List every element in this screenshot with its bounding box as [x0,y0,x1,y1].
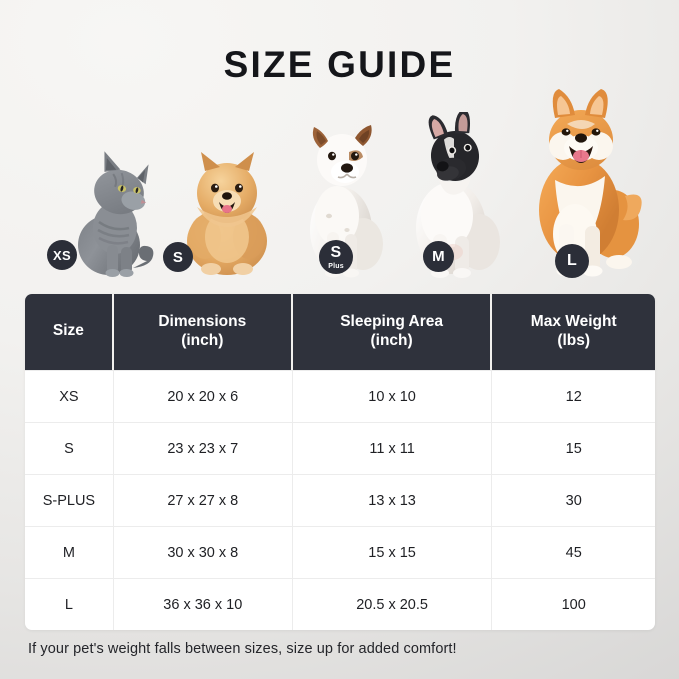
table-row: S-PLUS 27 x 27 x 8 13 x 13 30 [25,474,655,526]
cell-sleeping-area: 20.5 x 20.5 [293,579,493,630]
size-badge-xs-label: XS [53,249,71,262]
table-header-max-weight-line2: (lbs) [557,331,590,350]
animal-dog-jack-russell-terrier: S Plus [287,112,395,280]
table-row: S 23 x 23 x 7 11 x 11 15 [25,422,655,474]
size-badge-l: L [555,244,589,278]
cell-max-weight: 12 [492,371,655,422]
cell-sleeping-area: 10 x 10 [293,371,493,422]
table-header-max-weight-line1: Max Weight [531,312,617,331]
animal-lineup: XS [25,84,655,280]
cell-dimensions: 20 x 20 x 6 [114,371,293,422]
cell-size: S-PLUS [25,475,114,526]
table-row: XS 20 x 20 x 6 10 x 10 12 [25,370,655,422]
table-row: M 30 x 30 x 8 15 x 15 45 [25,526,655,578]
animal-dog-shiba-inu: L [515,84,645,280]
cell-sleeping-area: 13 x 13 [293,475,493,526]
size-table: Size Dimensions (inch) Sleeping Area (in… [25,294,655,630]
size-badge-s-plus-label: S [331,245,342,261]
animal-dog-pomeranian: S [175,145,279,280]
cell-size: M [25,527,114,578]
cell-size: S [25,423,114,474]
table-header-size-line1: Size [53,321,84,340]
cell-max-weight: 45 [492,527,655,578]
table-header-size: Size [25,294,114,370]
cell-max-weight: 30 [492,475,655,526]
table-header-sleeping-area: Sleeping Area (inch) [293,294,493,370]
table-header-sleeping-area-line2: (inch) [370,331,412,350]
cell-dimensions: 30 x 30 x 8 [114,527,293,578]
size-badge-s-plus-sublabel: Plus [328,263,344,270]
page-title: SIZE GUIDE [0,44,679,86]
cell-dimensions: 36 x 36 x 10 [114,579,293,630]
animal-dog-french-bulldog: M [397,112,509,280]
table-row: L 36 x 36 x 10 20.5 x 20.5 100 [25,578,655,630]
cell-sleeping-area: 15 x 15 [293,527,493,578]
cell-max-weight: 100 [492,579,655,630]
table-header-dimensions: Dimensions (inch) [114,294,293,370]
footer-note: If your pet's weight falls between sizes… [28,641,658,657]
size-badge-xs: XS [47,240,77,270]
table-header-row: Size Dimensions (inch) Sleeping Area (in… [25,294,655,370]
table-header-max-weight: Max Weight (lbs) [492,294,655,370]
size-badge-m: M [423,241,454,272]
cell-size: XS [25,371,114,422]
cell-max-weight: 15 [492,423,655,474]
table-header-sleeping-area-line1: Sleeping Area [340,312,443,331]
table-header-dimensions-line1: Dimensions [158,312,246,331]
animal-cat-grey-shorthair: XS [59,150,163,280]
size-badge-s-plus: S Plus [319,240,353,274]
size-badge-s-label: S [173,250,183,265]
size-badge-l-label: L [567,253,577,269]
size-badge-s: S [163,242,193,272]
cell-dimensions: 27 x 27 x 8 [114,475,293,526]
cell-sleeping-area: 11 x 11 [293,423,493,474]
size-guide-infographic: SIZE GUIDE [0,0,679,679]
size-badge-m-label: M [432,249,445,264]
cell-dimensions: 23 x 23 x 7 [114,423,293,474]
cell-size: L [25,579,114,630]
table-header-dimensions-line2: (inch) [181,331,223,350]
